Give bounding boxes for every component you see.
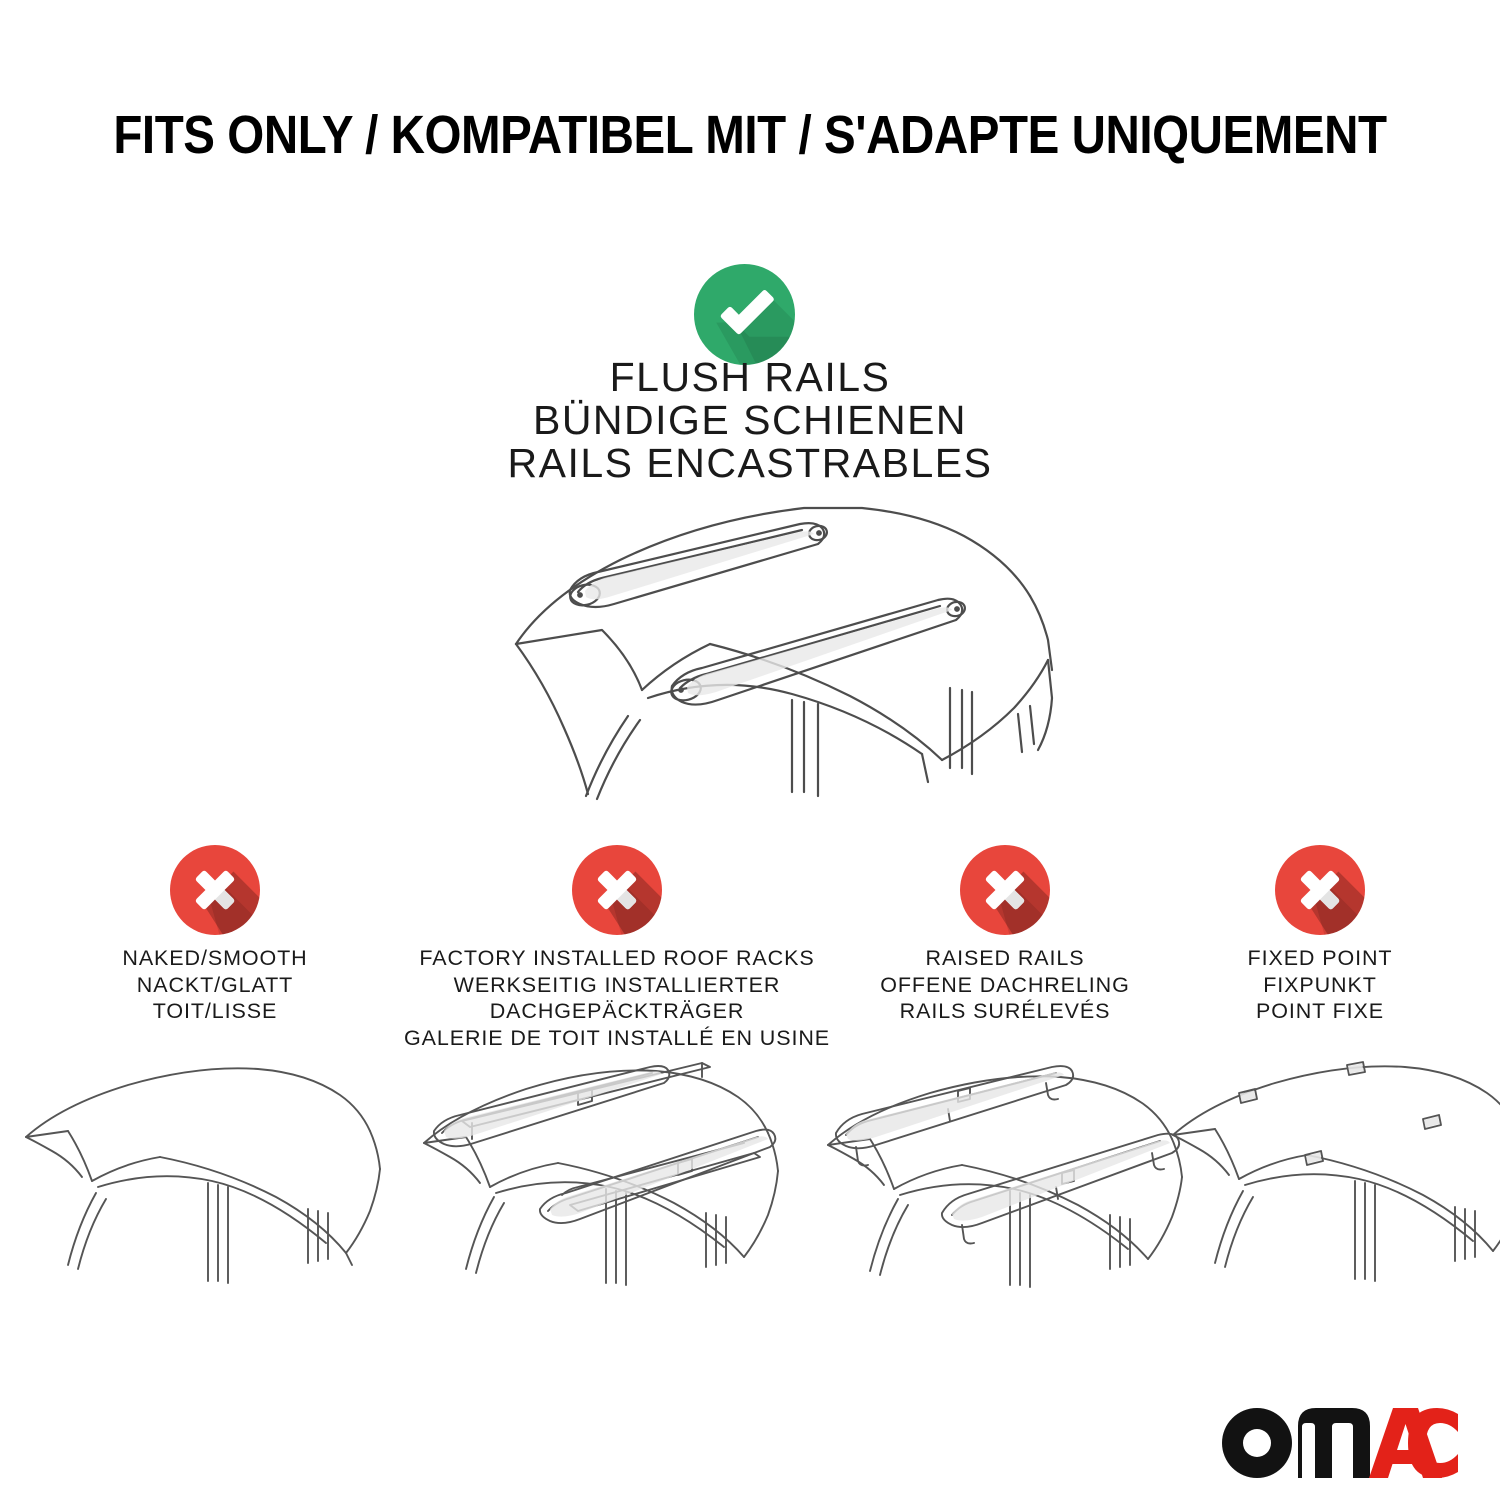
incompatible-label-naked-smooth: NAKED/SMOOTH NACKT/GLATT TOIT/LISSE — [70, 945, 360, 1025]
car-roof-factory-roof-racks-illustration — [402, 1057, 802, 1287]
incompatible-label-raised-rails: RAISED RAILS OFFENE DACHRELING RAILS SUR… — [845, 945, 1165, 1025]
check-circle-icon — [694, 264, 795, 365]
label-line-fr: TOIT/LISSE — [70, 998, 360, 1025]
label-line-de-1: WERKSEITIG INSTALLIERTER — [392, 972, 842, 999]
compatible-label-line-fr: RAILS ENCASTRABLES — [0, 442, 1500, 485]
compatibility-infographic: FITS ONLY / KOMPATIBEL MIT / S'ADAPTE UN… — [0, 0, 1500, 1500]
label-line-fr: RAILS SURÉLEVÉS — [845, 998, 1165, 1025]
label-line-de: NACKT/GLATT — [70, 972, 360, 999]
car-roof-fixed-point-illustration — [1155, 1057, 1500, 1287]
label-line-en: FACTORY INSTALLED ROOF RACKS — [392, 945, 842, 972]
x-circle-icon — [572, 845, 662, 935]
label-line-de: FIXPUNKT — [1175, 972, 1465, 999]
incompatible-label-factory-roof-racks: FACTORY INSTALLED ROOF RACKS WERKSEITIG … — [392, 945, 842, 1051]
x-circle-icon — [1275, 845, 1365, 935]
label-line-de-2: DACHGEPÄCKTRÄGER — [392, 998, 842, 1025]
label-line-de: OFFENE DACHRELING — [845, 972, 1165, 999]
label-line-fr: POINT FIXE — [1175, 998, 1465, 1025]
label-line-fr: GALERIE DE TOIT INSTALLÉ EN USINE — [392, 1025, 842, 1052]
x-circle-icon — [960, 845, 1050, 935]
compatible-label-line-en: FLUSH RAILS — [0, 356, 1500, 399]
x-circle-icon — [170, 845, 260, 935]
incompatible-label-fixed-point: FIXED POINT FIXPUNKT POINT FIXE — [1175, 945, 1465, 1025]
page-title: FITS ONLY / KOMPATIBEL MIT / S'ADAPTE UN… — [90, 104, 1410, 166]
omac-logo — [1222, 1408, 1460, 1478]
compatible-label: FLUSH RAILS BÜNDIGE SCHIENEN RAILS ENCAS… — [0, 356, 1500, 485]
label-line-en: FIXED POINT — [1175, 945, 1465, 972]
car-roof-naked-illustration — [8, 1057, 388, 1287]
label-line-en: NAKED/SMOOTH — [70, 945, 360, 972]
car-roof-raised-rails-illustration — [800, 1057, 1200, 1287]
car-roof-with-flush-rails-illustration — [452, 492, 1062, 802]
label-line-en: RAISED RAILS — [845, 945, 1165, 972]
compatible-label-line-de: BÜNDIGE SCHIENEN — [0, 399, 1500, 442]
